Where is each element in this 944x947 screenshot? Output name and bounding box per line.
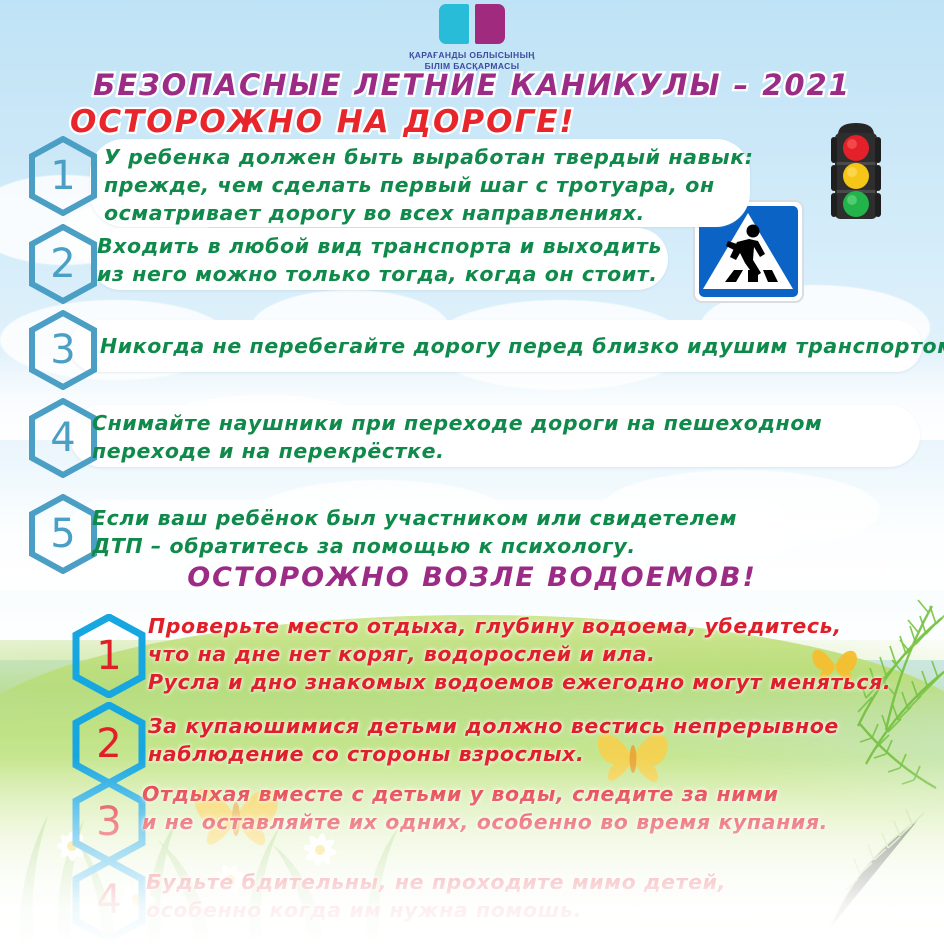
rule-text: Проверьте место отдыха, глубину водоема,… bbox=[148, 612, 891, 696]
rule-number: 1 bbox=[50, 156, 75, 196]
rule-text-line: У ребенка должен быть выработан твердый … bbox=[104, 143, 754, 171]
logo-caption-line-1: ҚАРАҒАНДЫ ОБЛЫСЫНЫҢ bbox=[0, 50, 944, 61]
rule-number-badge: 1 bbox=[72, 614, 146, 698]
safe-summer-holidays-poster: ҚАРАҒАНДЫ ОБЛЫСЫНЫҢ БІЛІМ БАСҚАРМАСЫ БЕЗ… bbox=[0, 0, 944, 947]
poster-main-title: БЕЗОПАСНЫЕ ЛЕТНИЕ КАНИКУЛЫ – 2021 bbox=[0, 68, 944, 102]
bottom-white-fade bbox=[0, 757, 944, 947]
rule-number-badge: 2 bbox=[28, 224, 98, 304]
rule-text: Если ваш ребёнок был участником или свид… bbox=[92, 504, 737, 560]
rule-text-line: переходе и на перекрёстке. bbox=[92, 437, 822, 465]
rule-text-line: Если ваш ребёнок был участником или свид… bbox=[92, 504, 737, 532]
rule-number: 2 bbox=[50, 244, 75, 284]
rule-number: 4 bbox=[50, 418, 75, 458]
rule-text-line: Никогда не перебегайте дорогу перед близ… bbox=[100, 332, 944, 360]
rule-text-line: осматривает дорогу во всех направлениях. bbox=[104, 199, 754, 227]
rule-number-badge: 5 bbox=[28, 494, 98, 574]
rule-text-line: ДТП – обратитесь за помощью к психологу. bbox=[92, 532, 737, 560]
rule-number-badge: 3 bbox=[28, 310, 98, 390]
road-section-title: ОСТОРОЖНО НА ДОРОГЕ! bbox=[70, 104, 576, 140]
rule-number-badge: 4 bbox=[28, 398, 98, 478]
rule-text-line: что на дне нет коряг, водорослей и ила. bbox=[148, 640, 891, 668]
rule-text-line: Входить в любой вид транспорта и выходит… bbox=[97, 232, 662, 260]
rule-text: Входить в любой вид транспорта и выходит… bbox=[97, 232, 662, 288]
logo-left-panel bbox=[439, 4, 469, 44]
traffic-light-icon bbox=[826, 121, 886, 221]
water-section-title: ОСТОРОЖНО ВОЗЛЕ ВОДОЕМОВ! bbox=[0, 562, 944, 593]
logo-block: ҚАРАҒАНДЫ ОБЛЫСЫНЫҢ БІЛІМ БАСҚАРМАСЫ bbox=[0, 4, 944, 72]
rule-text-line: из него можно только тогда, когда он сто… bbox=[97, 260, 662, 288]
rule-text-line: За купаюшимися детьми должно вестись неп… bbox=[148, 712, 839, 740]
rule-number: 1 bbox=[96, 636, 121, 676]
rule-text-line: прежде, чем сделать первый шаг с тротуар… bbox=[104, 171, 754, 199]
rule-text-line: Проверьте место отдыха, глубину водоема,… bbox=[148, 612, 891, 640]
rule-number: 3 bbox=[50, 330, 75, 370]
rule-text-line: Снимайте наушники при переходе дороги на… bbox=[92, 409, 822, 437]
rule-text-line: Русла и дно знакомых водоемов ежегодно м… bbox=[148, 668, 891, 696]
rule-number: 5 bbox=[50, 514, 75, 554]
rule-number-badge: 1 bbox=[28, 136, 98, 216]
logo-right-panel bbox=[475, 4, 505, 44]
rule-text: Снимайте наушники при переходе дороги на… bbox=[92, 409, 822, 465]
rule-text: Никогда не перебегайте дорогу перед близ… bbox=[100, 332, 944, 360]
book-logo-icon bbox=[439, 4, 505, 44]
rule-text: У ребенка должен быть выработан твердый … bbox=[104, 143, 754, 227]
